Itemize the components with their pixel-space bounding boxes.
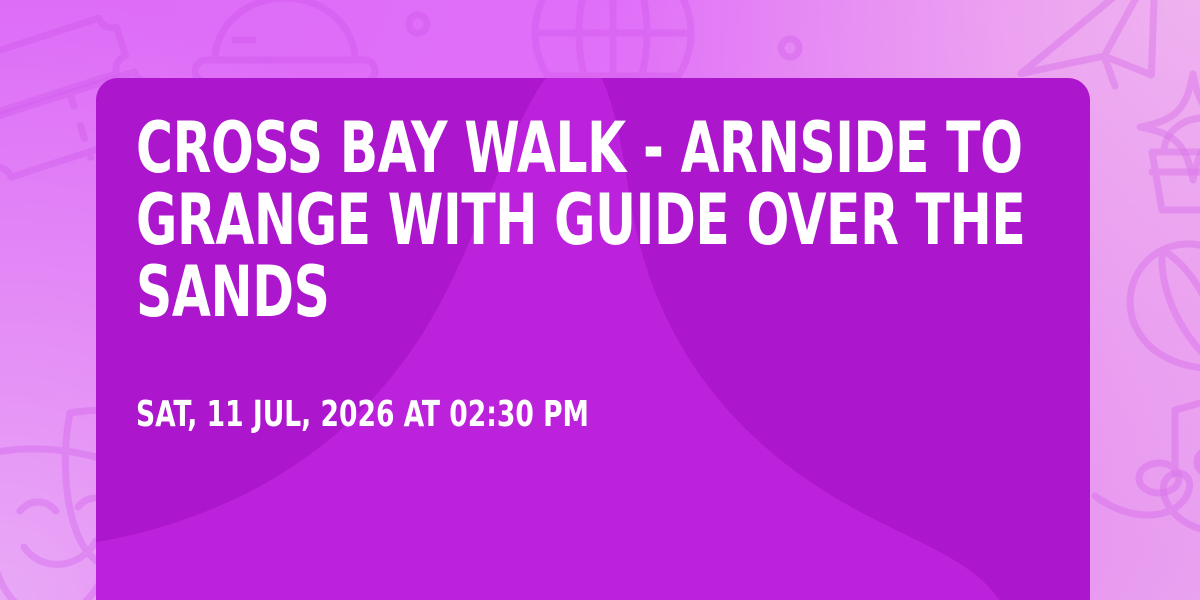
music-note-icon bbox=[1115, 378, 1200, 528]
event-title: Cross Bay Walk - Arnside to Grange with … bbox=[136, 112, 1050, 328]
event-banner: Cross Bay Walk - Arnside to Grange with … bbox=[0, 0, 1200, 600]
card-content: Cross Bay Walk - Arnside to Grange with … bbox=[136, 112, 1050, 435]
picnic-basket-icon bbox=[1134, 96, 1200, 226]
event-datetime: Sat, 11 Jul, 2026 at 02:30 PM bbox=[136, 328, 1050, 435]
confetti-dot-icon bbox=[770, 28, 810, 68]
confetti-dot-icon bbox=[398, 4, 438, 44]
event-card: Cross Bay Walk - Arnside to Grange with … bbox=[96, 78, 1090, 600]
